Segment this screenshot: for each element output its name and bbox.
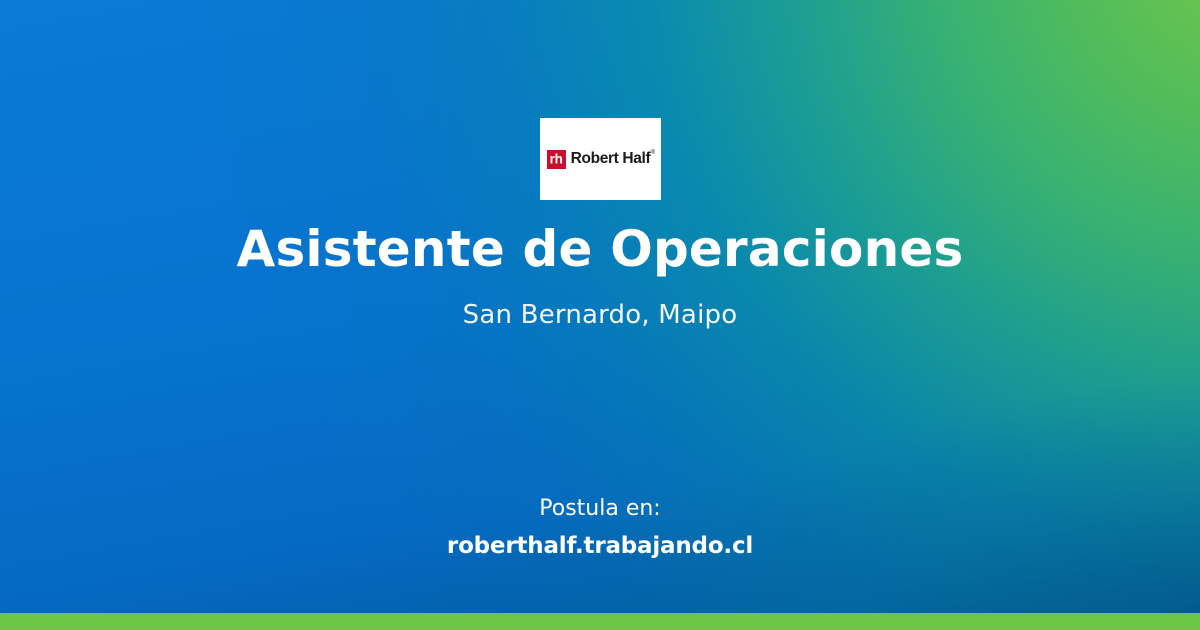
company-logo: rh Robert Half® [540, 118, 661, 200]
trademark-symbol: ® [651, 150, 655, 156]
cta-lead-text: Postula en: [0, 496, 1200, 522]
bottom-accent-bar [0, 613, 1200, 630]
job-title: Asistente de Operaciones [0, 222, 1200, 277]
logo-mark-text: rh [550, 153, 563, 167]
logo-wordmark-text: Robert Half [571, 150, 651, 167]
card-content: rh Robert Half® Asistente de Operaciones… [0, 0, 1200, 630]
robert-half-mark-icon: rh [547, 150, 566, 169]
job-share-card: rh Robert Half® Asistente de Operaciones… [0, 0, 1200, 630]
cta-site-url[interactable]: roberthalf.trabajando.cl [0, 533, 1200, 561]
job-location: San Bernardo, Maipo [0, 300, 1200, 331]
logo-lockup: rh Robert Half® [547, 150, 655, 169]
logo-wordmark: Robert Half® [571, 151, 655, 167]
